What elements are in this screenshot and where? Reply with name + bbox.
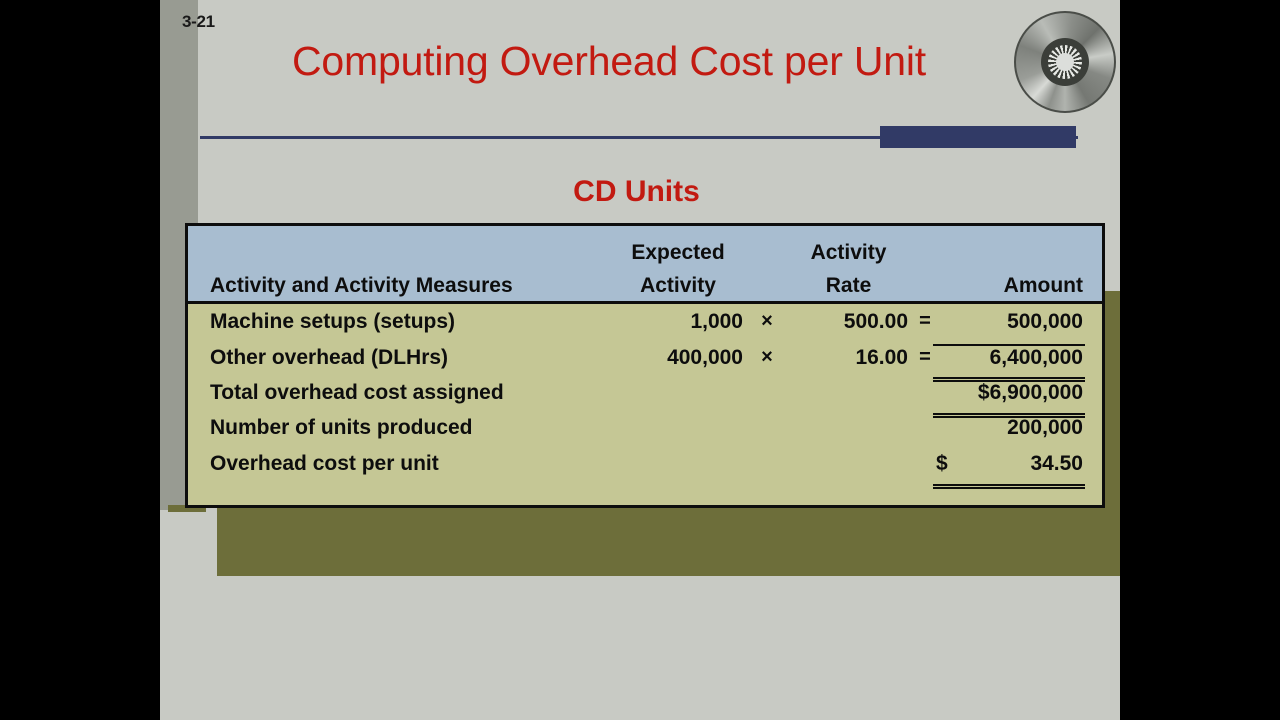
row-rate: 16.00: [778, 346, 908, 370]
row-amount: $6,900,000: [933, 381, 1083, 405]
header-accent-block: [880, 126, 1076, 148]
column-header-expected-line1: Expected: [613, 241, 743, 265]
column-header-rate-line1: Activity: [791, 241, 906, 265]
cd-disc-center-hole: [1056, 53, 1074, 71]
table-row-total: Total overhead cost assigned $6,900,000: [188, 381, 1102, 417]
overhead-cost-table: Activity and Activity Measures Expected …: [185, 223, 1105, 508]
slide-canvas: 3-21 Computing Overhead Cost per Unit CD…: [160, 0, 1120, 720]
multiply-operator: ×: [756, 346, 778, 369]
row-amount: 500,000: [933, 310, 1083, 334]
table-body-panel: Activity and Activity Measures Expected …: [185, 223, 1105, 508]
section-subtitle: CD Units: [204, 175, 1069, 209]
row-quantity: 400,000: [583, 346, 743, 370]
row-label: Machine setups (setups): [210, 310, 455, 334]
cd-disc-icon: [1010, 7, 1120, 117]
column-header-amount: Amount: [933, 274, 1083, 298]
row-label: Overhead cost per unit: [210, 452, 439, 476]
row-label: Total overhead cost assigned: [210, 381, 504, 405]
column-header-measures: Activity and Activity Measures: [210, 274, 513, 298]
subtotal-rule: [933, 344, 1085, 346]
table-row-units: Number of units produced 200,000: [188, 416, 1102, 452]
multiply-operator: ×: [756, 310, 778, 333]
row-quantity: 1,000: [583, 310, 743, 334]
row-amount: 34.50: [933, 452, 1083, 476]
double-rule: [933, 377, 1085, 382]
table-row-per-unit: Overhead cost per unit $ 34.50: [188, 452, 1102, 488]
double-rule: [933, 413, 1085, 418]
double-rule-final: [933, 484, 1085, 489]
column-header-expected-line2: Activity: [613, 274, 743, 298]
page-title: Computing Overhead Cost per Unit: [204, 38, 1014, 85]
row-rate: 500.00: [778, 310, 908, 334]
table-row: Machine setups (setups) 1,000 × 500.00 =…: [188, 310, 1102, 346]
row-label: Other overhead (DLHrs): [210, 346, 448, 370]
row-label: Number of units produced: [210, 416, 473, 440]
column-header-rate-line2: Rate: [791, 274, 906, 298]
screen: 3-21 Computing Overhead Cost per Unit CD…: [0, 0, 1280, 720]
table-header-row: Activity and Activity Measures Expected …: [188, 226, 1102, 304]
slide-number: 3-21: [182, 12, 215, 32]
row-amount: 200,000: [933, 416, 1083, 440]
row-amount: 6,400,000: [933, 346, 1083, 370]
